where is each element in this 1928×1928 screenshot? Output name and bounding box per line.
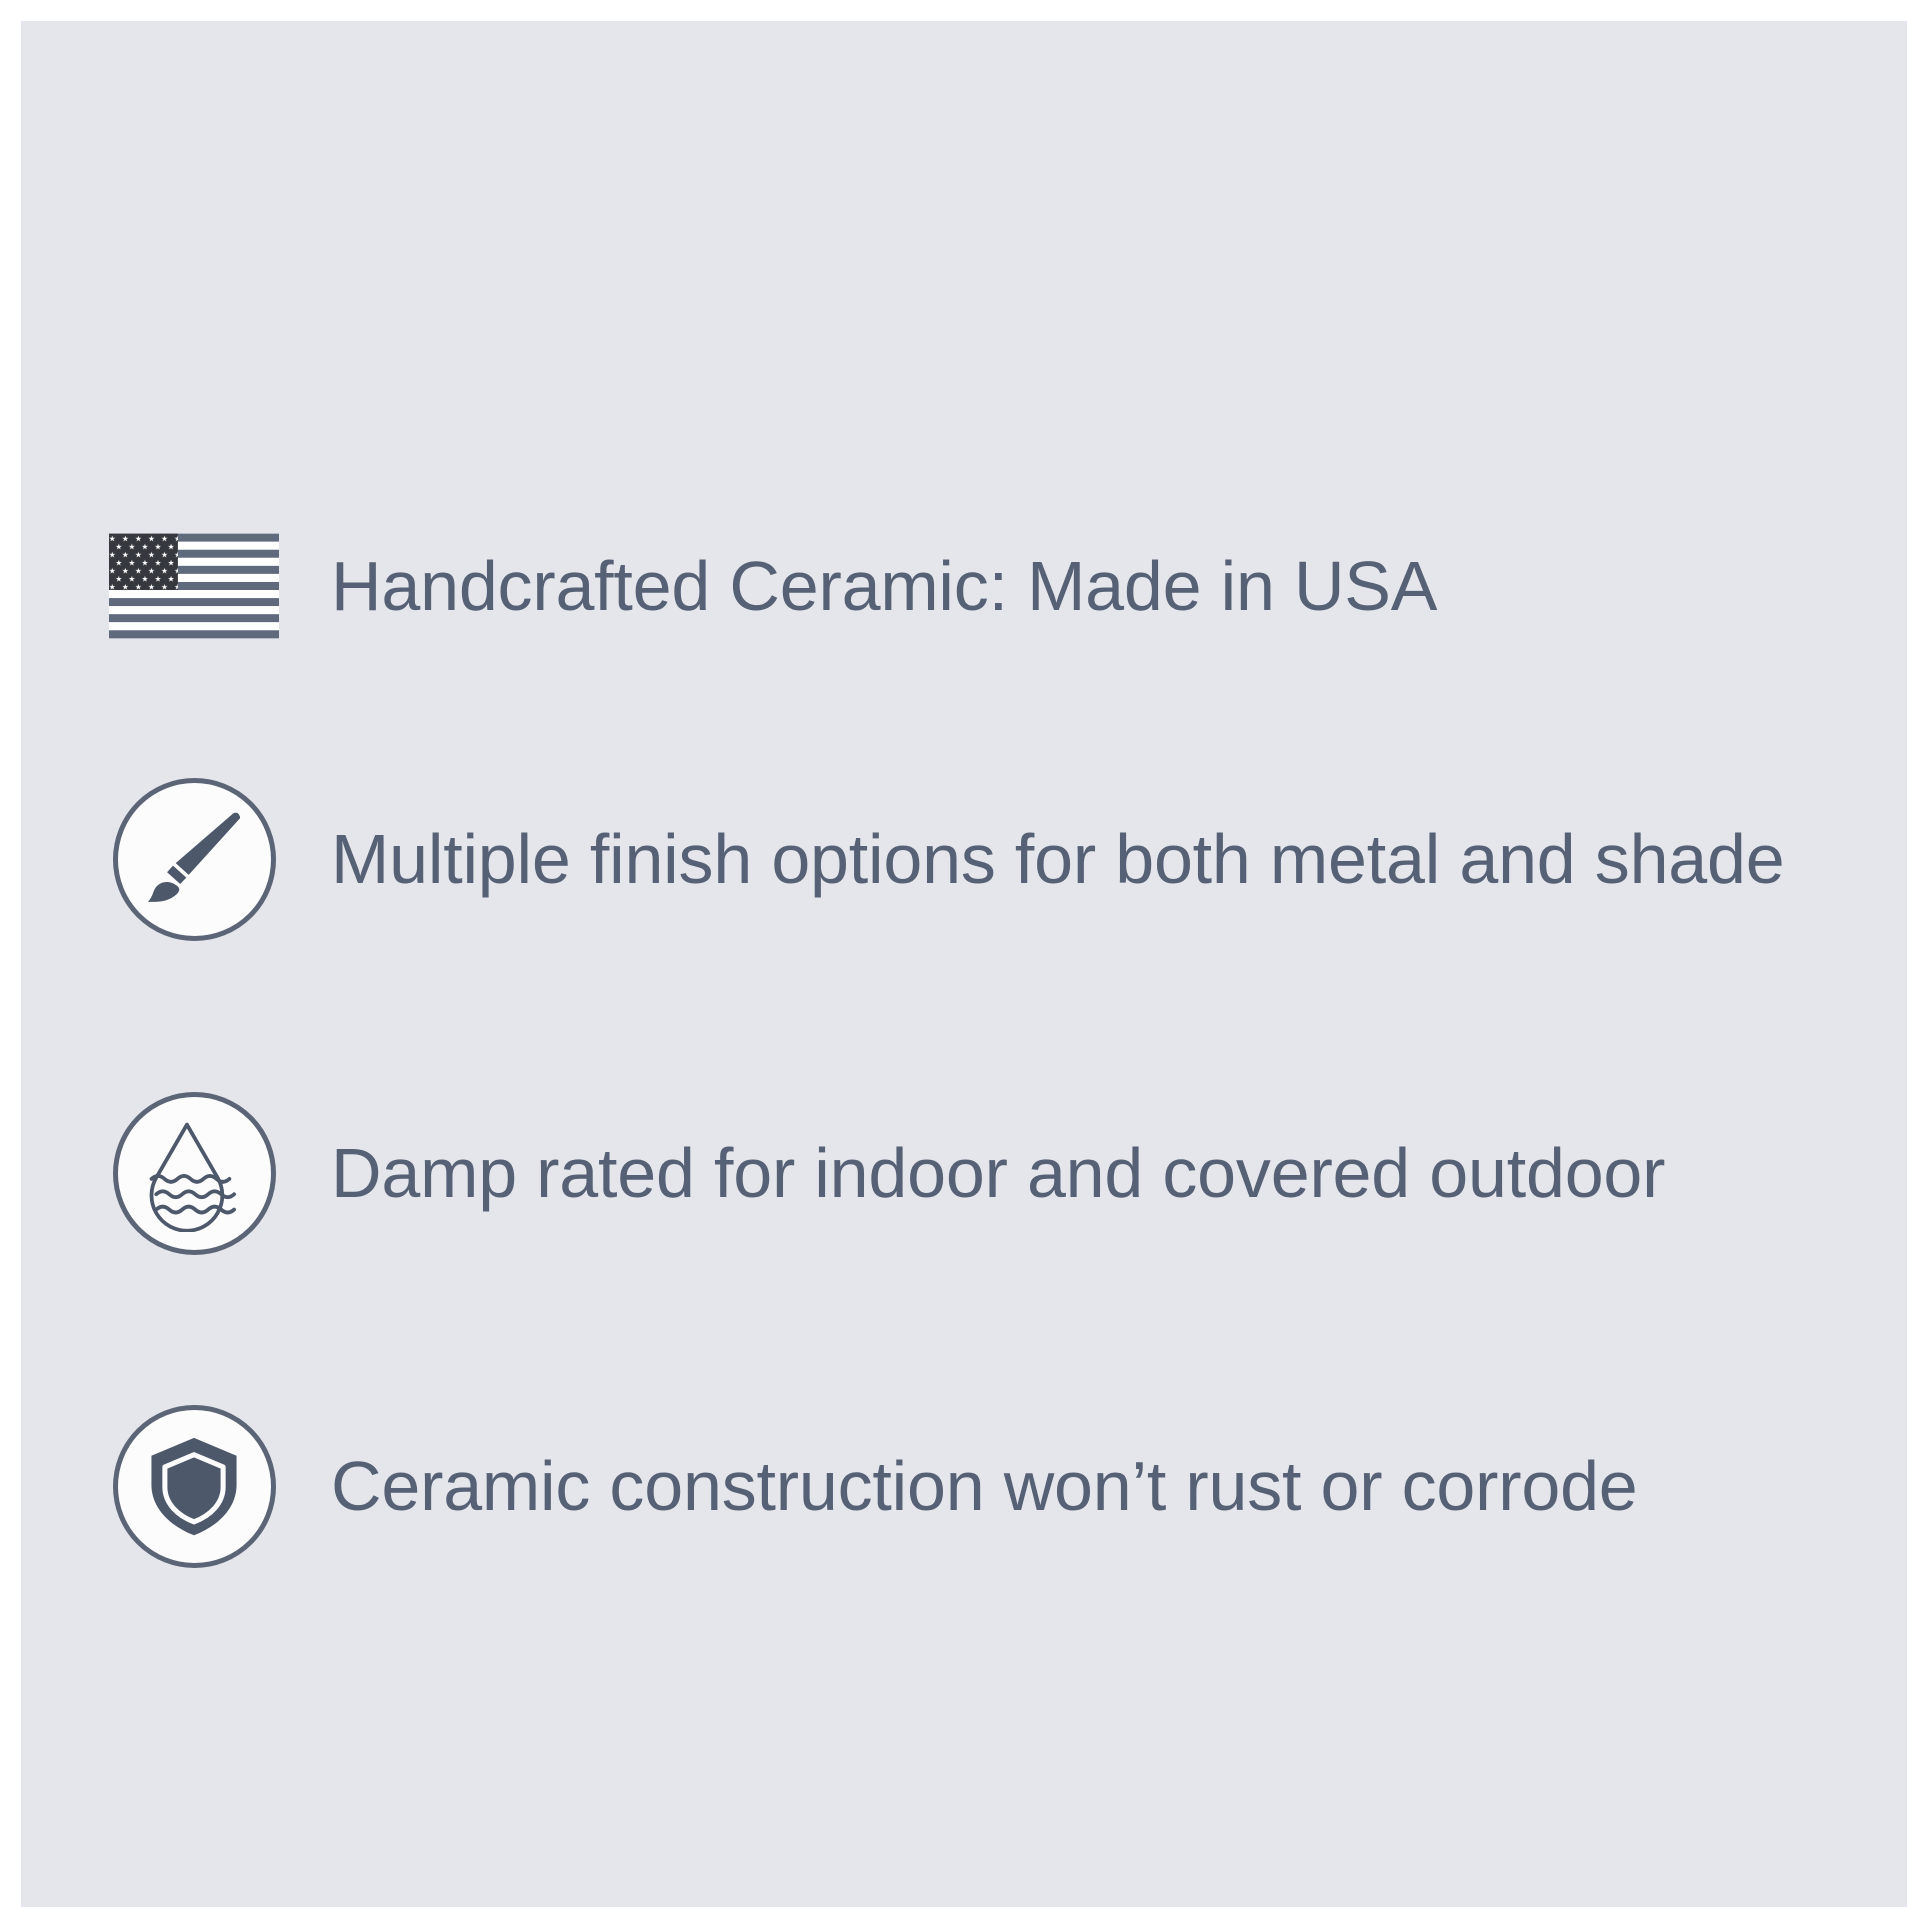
- feature-list: Handcrafted Ceramic: Made in USA: [21, 21, 1907, 1907]
- icon-slot: [109, 1088, 279, 1258]
- feature-label: Ceramic construction won’t rust or corro…: [331, 1451, 1638, 1521]
- icon-circle: [113, 1092, 276, 1255]
- icon-circle: [113, 1405, 276, 1568]
- paintbrush-icon: [135, 800, 253, 918]
- feature-label: Multiple finish options for both metal a…: [331, 824, 1785, 894]
- feature-row: Multiple finish options for both metal a…: [109, 774, 1785, 944]
- feature-row: Damp rated for indoor and covered outdoo…: [109, 1088, 1665, 1258]
- icon-circle: [113, 778, 276, 941]
- feature-panel: Handcrafted Ceramic: Made in USA: [21, 21, 1907, 1907]
- icon-slot: [109, 1401, 279, 1571]
- feature-label: Damp rated for indoor and covered outdoo…: [331, 1138, 1665, 1208]
- water-drop-waves-icon: [135, 1114, 253, 1232]
- shield-icon: [138, 1430, 250, 1542]
- feature-row: Ceramic construction won’t rust or corro…: [109, 1401, 1638, 1571]
- feature-row: Handcrafted Ceramic: Made in USA: [109, 501, 1437, 671]
- icon-slot: [109, 501, 279, 671]
- feature-label: Handcrafted Ceramic: Made in USA: [331, 551, 1437, 621]
- icon-slot: [109, 774, 279, 944]
- usa-flag-icon: [109, 532, 279, 640]
